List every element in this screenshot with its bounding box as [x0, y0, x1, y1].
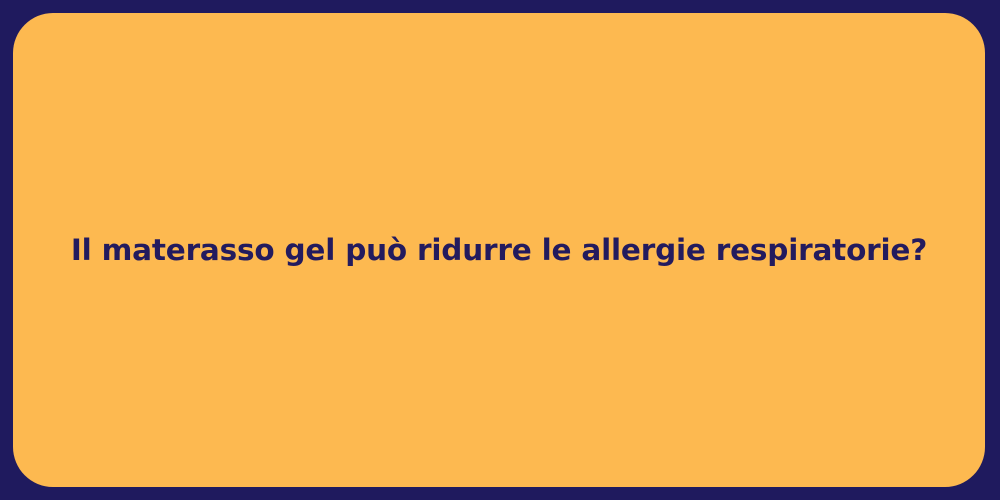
- hero-card: Il materasso gel può ridurre le allergie…: [13, 13, 985, 487]
- outer-frame: Il materasso gel può ridurre le allergie…: [0, 0, 1000, 500]
- page-title: Il materasso gel può ridurre le allergie…: [71, 232, 927, 269]
